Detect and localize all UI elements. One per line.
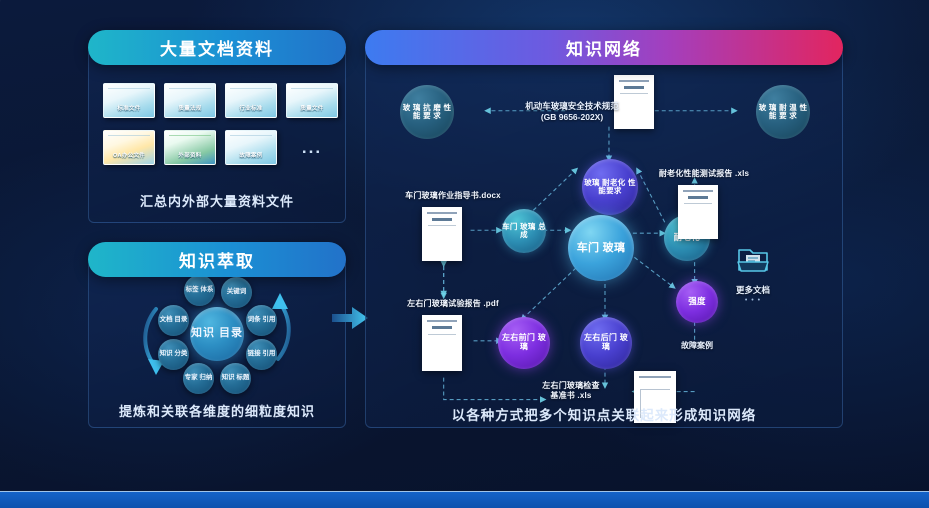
doc-label-aging-test: 耐老化性能测试报告 .xls [634, 169, 774, 179]
doc-title-line [432, 218, 451, 221]
more-documents-group[interactable]: 更多文档 • • • [722, 248, 784, 304]
documents-panel-title: 大量文档资料 [88, 30, 346, 65]
right-arrow-icon [330, 304, 370, 332]
thumbnail-lines [291, 88, 333, 103]
wheel-node-tag-system[interactable]: 标签 体系 [184, 275, 215, 306]
node-door-glass[interactable]: 车门 玻璃 [568, 215, 634, 281]
thumbnail-label: 故障案例 [226, 151, 276, 159]
node-door-glass-assembly[interactable]: 车门 玻璃 总成 [502, 209, 546, 253]
documents-caption: 汇总内外部大量资料文件 [89, 191, 345, 210]
node-front-door-glass[interactable]: 左右前门 玻璃 [498, 317, 550, 369]
doc-header-line [427, 320, 457, 322]
thumbnail-label: 外部资料 [165, 151, 215, 159]
doc-label-test-report: 左右门玻璃试验报告 .pdf [378, 299, 528, 309]
thumbnail-lines [108, 135, 150, 150]
right-panel: 机动车玻璃安全技术规范 (GB 9656-202X) 玻 璃 抗 磨 性 能 要… [365, 30, 843, 428]
extraction-panel-title: 知识萃取 [88, 242, 346, 277]
wheel-node-expert[interactable]: 专家 归纳 [183, 363, 214, 394]
document-thumbnail-test-report[interactable] [422, 315, 462, 371]
doc-label-check-basis: 左右门玻璃检查 基准书 .xls [516, 381, 626, 401]
document-thumbnail[interactable]: 质量文件 [286, 83, 338, 118]
wheel-node-title[interactable]: 知识 标题 [220, 363, 251, 394]
thumbnail-lines [230, 88, 272, 103]
doc-header-line [639, 376, 671, 378]
thumbnail-label: OA办公文件 [104, 151, 154, 159]
extraction-caption: 提炼和关联各维度的细粒度知识 [89, 401, 345, 420]
thumbnail-label: 行业标准 [226, 104, 276, 112]
standard-spec-label: 机动车玻璃安全技术规范 (GB 9656-202X) [488, 101, 656, 123]
network-panel-body: 机动车玻璃安全技术规范 (GB 9656-202X) 玻 璃 抗 磨 性 能 要… [365, 48, 843, 428]
document-thumbnail[interactable]: 故障案例 [225, 130, 277, 165]
documents-stack-icon [736, 248, 770, 275]
doc-title-line [624, 86, 643, 89]
node-glass-aging-requirement[interactable]: 玻璃 耐老化 性能要求 [582, 159, 638, 215]
extraction-panel-body: 知识 目录 标签 体系 关键词 词条 引用 链接 引用 知识 标题 专家 归纳 … [88, 260, 346, 428]
thumbnail-label: 质量法规 [165, 104, 215, 112]
more-documents-ellipsis: ... [286, 130, 338, 165]
wheel-node-doc-catalog[interactable]: 文档 目录 [158, 305, 189, 336]
document-thumbnail[interactable]: 行业标准 [225, 83, 277, 118]
wheel-node-category[interactable]: 知识 分类 [158, 339, 189, 370]
node-glass-wear-requirement[interactable]: 玻 璃 抗 磨 性 能 要 求 [400, 85, 454, 139]
thumbnail-lines [230, 135, 272, 150]
thumbnail-label: 质量文件 [287, 104, 337, 112]
document-thumbnail[interactable]: 质量法规 [164, 83, 216, 118]
document-thumbnail[interactable]: 外部资料 [164, 130, 216, 165]
node-strength[interactable]: 强度 [676, 281, 718, 323]
documents-panel-body: 标准文件 质量法规 行业标准 质量文件 OA办公文件 外部资料 [88, 48, 346, 223]
wheel-core-node[interactable]: 知识 目录 [190, 307, 244, 361]
thumbnail-label: 标准文件 [104, 104, 154, 112]
thumbnail-lines [169, 88, 211, 103]
doc-header-line [619, 80, 649, 82]
wheel-node-link-ref[interactable]: 链接 引用 [246, 339, 277, 370]
document-thumbnail[interactable]: OA办公文件 [103, 130, 155, 165]
doc-label-guide: 车门玻璃作业指导书.docx [378, 191, 528, 201]
left-panel: 标准文件 质量法规 行业标准 质量文件 OA办公文件 外部资料 [88, 30, 346, 428]
doc-body-lines [684, 203, 713, 233]
thumbnail-lines [169, 135, 211, 150]
document-thumbnail[interactable]: 标准文件 [103, 83, 155, 118]
node-glass-temperature-requirement[interactable]: 玻 璃 耐 温 性 能 要 求 [756, 85, 810, 139]
knowledge-wheel: 知识 目录 标签 体系 关键词 词条 引用 链接 引用 知识 标题 专家 归纳 … [122, 273, 312, 395]
doc-title-line [432, 326, 451, 329]
doc-header-line [427, 212, 457, 214]
thumbnail-lines [108, 88, 150, 103]
bottom-accent-strip [0, 491, 929, 508]
doc-body-lines [428, 225, 457, 255]
doc-body-lines [428, 334, 457, 365]
more-documents-dots: • • • [722, 297, 784, 304]
fault-cases-label: 故障案例 [662, 341, 732, 351]
doc-header-line [683, 190, 713, 192]
wheel-node-keyword[interactable]: 关键词 [221, 277, 252, 308]
network-panel-title: 知识网络 [365, 30, 843, 65]
doc-title-line [688, 196, 707, 199]
more-documents-label: 更多文档 [722, 284, 784, 296]
document-thumbnail-grid: 标准文件 质量法规 行业标准 质量文件 OA办公文件 外部资料 [103, 83, 335, 169]
wheel-node-term-ref[interactable]: 词条 引用 [246, 305, 277, 336]
document-thumbnail-guide[interactable] [422, 207, 462, 261]
document-thumbnail-aging-test[interactable] [678, 185, 718, 239]
node-rear-door-glass[interactable]: 左右后门 玻璃 [580, 317, 632, 369]
network-caption: 以各种方式把多个知识点关联起来形成知识网络 [366, 404, 842, 424]
